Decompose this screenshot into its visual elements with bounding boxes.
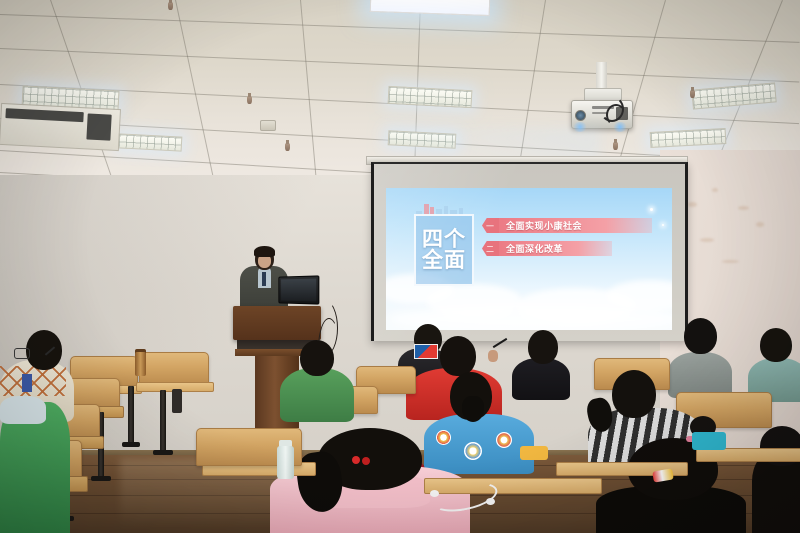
student-striped-hoodie-head <box>612 370 656 418</box>
student-teal-shirt-head <box>760 328 792 362</box>
seat-leg <box>128 386 134 444</box>
ceiling-grid-line <box>300 0 319 180</box>
presentation-slide: 四个 全面 一 全面实现小康社会 二 全面深化改革 <box>386 188 672 330</box>
student-red-coat-head <box>440 336 476 376</box>
lecture-hall-photo: 四个 全面 一 全面实现小康社会 二 全面深化改革 <box>0 0 800 533</box>
light-panel-center-icon <box>388 86 473 108</box>
bullet-number-badge-1: 一 <box>482 218 499 233</box>
hair-tie-icon <box>362 457 370 465</box>
light-panel-left2-icon <box>118 133 183 151</box>
student-green-coat-mid-body <box>280 368 354 422</box>
light-panel-right-icon <box>691 82 776 109</box>
sprinkler-head-icon <box>285 143 290 151</box>
projection-screen[interactable]: 四个 全面 一 全面实现小康社会 二 全面深化改革 <box>371 162 688 341</box>
ceiling-grid-line <box>0 14 800 43</box>
earbud-icon <box>486 498 495 505</box>
slide-bullet-2: 二 全面深化改革 <box>482 241 612 256</box>
earbud-icon <box>430 490 439 497</box>
ceiling-speaker-icon <box>260 120 276 131</box>
projector-indicator-icon <box>572 122 588 132</box>
seat-foot <box>122 442 140 447</box>
thermos-flask[interactable] <box>135 352 146 376</box>
ac-vent-icon <box>0 103 121 151</box>
presenter-hair <box>254 246 275 257</box>
student-grey-shirt-head <box>684 318 717 354</box>
orange-object[interactable] <box>520 446 548 460</box>
slide-bullet-1: 一 全面实现小康社会 <box>482 218 652 233</box>
hand <box>488 350 498 362</box>
hair-tie-icon <box>352 456 360 464</box>
sprinkler-head-icon <box>168 2 173 10</box>
seat-foot <box>91 476 111 481</box>
bullet-number-2: 二 <box>486 244 494 255</box>
student-argyle-sweater-head <box>26 330 62 370</box>
eyeglasses-icon <box>14 348 30 359</box>
seat-back[interactable] <box>139 352 209 386</box>
ceiling-grid-line <box>0 48 799 82</box>
projector-indicator-icon <box>612 122 628 132</box>
student-blue-floral-ponytail <box>462 396 484 422</box>
desk-top[interactable] <box>696 448 800 462</box>
seat-leg <box>160 390 166 452</box>
water-bottle[interactable] <box>277 446 294 479</box>
student-dark-head <box>528 330 558 364</box>
light-panel-top-icon <box>370 0 491 16</box>
light-panel-center2-icon <box>388 130 457 149</box>
floral-pattern <box>496 432 512 448</box>
projector-mount-pole-icon <box>596 62 607 90</box>
slide-title-line-1: 四个 <box>422 229 466 250</box>
flag-card <box>414 344 438 359</box>
bullet-number-1: 一 <box>486 221 494 232</box>
bullet-number-badge-2: 二 <box>482 241 499 256</box>
argyle-pattern <box>0 366 66 396</box>
ceiling-grid-line <box>175 0 220 180</box>
student-dark-body <box>512 358 570 400</box>
ceiling-grid-line <box>512 0 546 180</box>
sprinkler-head-icon <box>247 96 252 104</box>
bullet-text-2: 全面深化改革 <box>506 242 563 255</box>
slide-title-line-2: 全面 <box>422 250 466 271</box>
presenter-tie <box>262 272 266 286</box>
student-green-coat-left-hood <box>0 396 46 424</box>
bullet-text-1: 全面实现小康社会 <box>506 219 582 232</box>
seat-foot <box>153 450 173 455</box>
sprinkler-head-icon <box>613 142 618 150</box>
student-green-coat-mid-head <box>300 340 334 376</box>
floral-pattern <box>464 442 482 460</box>
lanyard <box>22 374 32 392</box>
presenter-laptop[interactable] <box>278 275 319 304</box>
slide-title-box: 四个 全面 <box>414 214 474 286</box>
sprinkler-head-icon <box>690 90 695 98</box>
floral-pattern <box>436 430 451 445</box>
blue-object[interactable] <box>692 432 726 450</box>
seat-hinge <box>172 389 182 413</box>
light-panel-right2-icon <box>650 128 727 148</box>
